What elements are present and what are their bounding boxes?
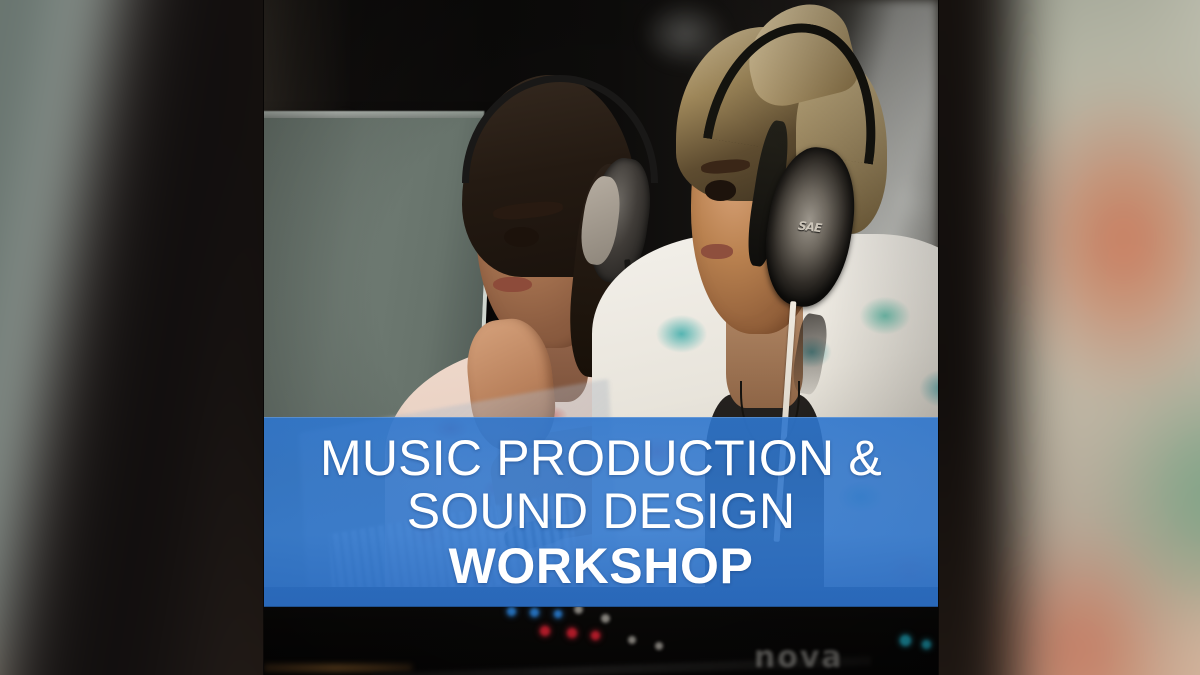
title-banner: MUSIC PRODUCTION & SOUND DESIGN WORKSHOP <box>264 417 938 607</box>
backdrop-right-blur <box>1015 0 1200 675</box>
title-line-1: MUSIC PRODUCTION & <box>320 433 882 484</box>
poster-canvas: SAE nova <box>0 0 1200 675</box>
title-line-3: WORKSHOP <box>449 541 754 592</box>
backdrop-left-blur <box>0 0 254 675</box>
title-line-2: SOUND DESIGN <box>407 486 796 537</box>
